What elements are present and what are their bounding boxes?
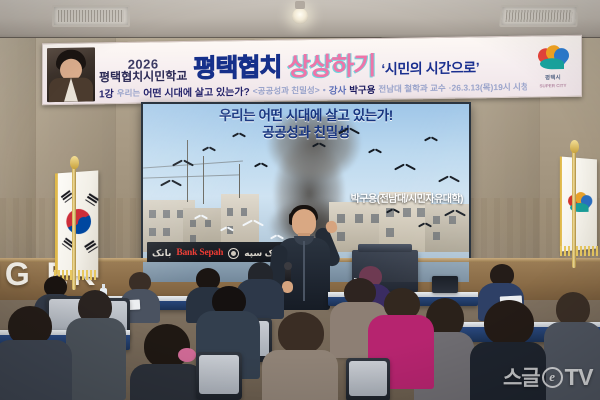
banner-speaker-affiliation: 전남대 철학과 교수 [378,81,445,94]
attendee [262,312,338,400]
flag-pole [72,166,76,290]
flag-fringe [560,246,598,256]
bank-emblem-icon [228,248,239,259]
bank-sign-english: Bank Sepah [176,248,223,258]
banner-speaker-photo [47,47,95,102]
bank-sepah-sign: بانک Bank Sepah بانک سپه [147,242,289,264]
flag-pole [572,150,576,268]
city-logo-name: 평택시 [545,73,561,81]
banner-title-quote: ‘시민의 시간으로’ [381,57,479,79]
city-flag [556,142,600,272]
taeguk-circle-icon [66,209,91,235]
ceiling [0,0,600,40]
banner-heading-left: 2026 평택협치시민학교 [99,56,187,83]
banner-title-secondary: 상상하기 [287,54,375,80]
bank-sign-arabic-left: بانک [152,248,171,259]
banner-lecture-topic: <공공성과 친밀성> [253,83,320,96]
slide-title-line1: 우리는 어떤 시대에 살고 있는가! [143,108,469,125]
banner-sub-faded: 우리는 [117,86,140,98]
city-logo: 평택시 SUPER CITY [531,42,575,91]
banner-dot: • [323,84,326,94]
attendee [544,292,600,400]
flag-finial-icon [70,156,79,169]
flag-finial-icon [570,140,579,153]
attendee [130,324,204,400]
city-logo-slogan: SUPER CITY [539,83,566,88]
office-chair [346,358,390,400]
city-emblem-icon [567,192,592,214]
air-vent-icon [52,5,130,27]
city-logo-mark-icon [536,44,570,71]
air-vent-icon [499,5,579,27]
banner-lecture-number: 1강 [99,85,114,100]
banner-text-block: 2026 평택협치시민학교 평택협치 상상하기 ‘시민의 시간으로’ 1강 우리… [99,39,527,102]
korean-flag [48,160,100,290]
slide-credit: 박구용(전남대/시민자유대학) [351,190,463,205]
city-flag-icon [560,156,597,251]
taegukgi-icon [55,170,98,277]
banner-role-label: 강사 [329,82,346,96]
slide-title-line2: 공공성과 친밀성 [143,125,469,142]
banner-schedule: ·26.3.13(목)19시 시청 대회의실 [449,80,527,94]
attendee [66,290,126,400]
photo-scene: IG EK 2026 평택협치시민학교 평택협치 상상하기 ‘시민의 시간으로’ [0,0,600,400]
attendee [470,300,546,400]
office-chair [196,352,242,400]
banner-lecture-question: 어떤 시대에 살고 있는가? [143,83,249,100]
hair-scrunchie [178,348,196,362]
banner-school: 평택협치시민학교 [99,70,187,84]
event-banner: 2026 평택협치시민학교 평택협치 상상하기 ‘시민의 시간으로’ 1강 우리… [42,35,582,105]
banner-title-primary: 평택협치 [193,55,281,81]
laptop-icon [432,276,458,293]
attendee [0,306,72,400]
slide-title: 우리는 어떤 시대에 살고 있는가! 공공성과 친밀성 [143,108,469,142]
ceiling-light-icon [292,8,308,24]
banner-speaker-name: 박구용 [349,82,375,96]
speaker-head [292,209,316,236]
